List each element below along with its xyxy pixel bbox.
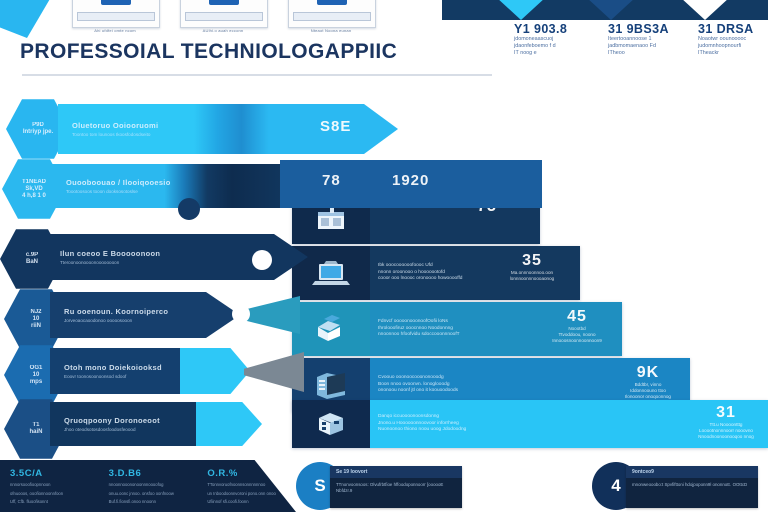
bottom-stat-line: Ufiinnof sfi.coofi.foonn bbox=[207, 499, 296, 505]
thumbnail-card[interactable] bbox=[72, 0, 160, 28]
network-cube-icon bbox=[292, 400, 370, 448]
stat-line: judomnhoopnourfi bbox=[698, 43, 768, 50]
thumbnail-card[interactable] bbox=[180, 0, 268, 28]
chevron-stat-block: 31 9BS3A Iteertooannoose 1 jadbmomaenaoo… bbox=[608, 22, 700, 57]
arrow-title: Otoh mono Doiekoiooksd bbox=[64, 363, 162, 372]
bottom-stat-line: ofnuooos, ooofionnoonnfoon bbox=[10, 491, 99, 497]
stair-panel-number: 35 Ma.onnnoonnoo.oon lonnnoonnnoooaonog bbox=[492, 252, 572, 282]
thumbnail-card[interactable] bbox=[288, 0, 376, 28]
page-title: PROFESSOIAL TECHNIOLOGAPPIIC bbox=[20, 40, 397, 64]
bottom-stat-line: TTonnvoruofnoonnsonnnnnnoo bbox=[207, 482, 296, 488]
bottom-stat-line: un Inboodoonnvoroni pono.onn onoo bbox=[207, 491, 296, 497]
stat-line: ITheackr bbox=[698, 50, 768, 57]
hexagon-label: T1 haiN bbox=[29, 422, 42, 436]
bottom-card[interactable]: 4 9ontceo9 mnonweooobo:t Spvfifttoni hdo… bbox=[592, 462, 768, 510]
bottom-stat-number: O.R.% bbox=[207, 468, 296, 479]
bottom-stat-line: onuu.oonc jnnoo. onsfoo oonfnoow bbox=[109, 491, 198, 497]
bottom-card-header: Se 19 Ioovort bbox=[330, 466, 462, 478]
stair-panel-number: 9K Bddtbr, vinno Iddonnoouno ttoo Ilonoo… bbox=[608, 364, 688, 400]
bottom-stat: O.R.% TTonnvoruofnoonnsonnnnnnoo un Inbo… bbox=[197, 460, 296, 512]
hexagon-label: OG1 10 mps bbox=[30, 365, 43, 386]
arrow-number-secondary: 1920 bbox=[392, 172, 429, 189]
chevron-navy-icon bbox=[574, 0, 648, 20]
arrow-subtitle: Tteroonoonoooonoooooooon bbox=[60, 260, 160, 266]
arrow-bar-text: Ilun coeoo E Booooonoon Tteroonoonoooono… bbox=[46, 249, 160, 266]
stat-number: 31 DRSA bbox=[698, 22, 768, 36]
stat-line: IT noog e bbox=[514, 50, 606, 57]
bottom-stat: 3.D.B6 nnoonnooononoonnnoooofog onuu.oon… bbox=[99, 460, 198, 512]
arrow-subtitle: Toootoosoos tooon dooksosotoslse bbox=[66, 189, 171, 195]
stat-number: Y1 903.8 bbox=[514, 22, 606, 36]
hexagon-label: c.9P BaN bbox=[26, 252, 38, 266]
bottom-stat-line: Buf.fi.fionsfi.onoo nnoonn bbox=[109, 499, 198, 505]
chevron-white-icon bbox=[668, 0, 742, 20]
bottom-card-text: mnonweooobo:t Spvfifttoni hdojpoponn9l o… bbox=[626, 478, 758, 492]
arrow-subtitle: Eoovr toonosoonoonsod sdoof bbox=[64, 374, 162, 380]
thumbnail-bar bbox=[77, 12, 155, 21]
arrow-bar-text: Otoh mono Doiekoiooksd Eoovr toonosoonoo… bbox=[50, 363, 162, 380]
arrow-bar-text: Oluetoruo Ooiooruomi Toontoo tom lounoos… bbox=[58, 121, 158, 138]
document-icon bbox=[317, 0, 347, 5]
hexagon-label: T1NEAD Sk,VD 4 h,8 1 0 bbox=[22, 179, 46, 200]
panel-number: 35 bbox=[492, 252, 572, 270]
thumbnail-bar bbox=[185, 12, 263, 21]
thumbnail-caption: Ahi ufdfei omte ncom bbox=[72, 28, 158, 33]
bottom-stat-line: Uff, Cfb. fluoofisonnt bbox=[10, 499, 99, 505]
arrow-connector-wedge bbox=[244, 352, 304, 392]
chevron-stat-block: 31 DRSA Noaotwr oounooooc judomnhoopnour… bbox=[698, 22, 768, 57]
arrow-subtitle: Jhoo oteodsotosdoosfoodosfeoood bbox=[64, 427, 160, 433]
bottom-card-header: 9ontceo9 bbox=[626, 466, 758, 478]
hexagon-label: NJ2 10 riiN bbox=[30, 309, 41, 330]
arrow-bar-text: Ouooboouao / Ilooiqooesio Toootoosoos to… bbox=[52, 178, 171, 195]
connector-dot bbox=[178, 198, 200, 220]
arrow-number: S8E bbox=[320, 118, 351, 135]
thumbnail-bar bbox=[293, 12, 371, 21]
hexagon-label: P9D Intriyp jpe. bbox=[23, 122, 53, 136]
arrow-head-cyan bbox=[196, 402, 262, 446]
thumbnail-caption: Nteaot Noona eunan bbox=[288, 28, 374, 33]
chevron-cyan-icon bbox=[484, 0, 558, 20]
bottom-card[interactable]: S Se 19 Ioovort TTnonvoonsoos: Olvufrbtf… bbox=[296, 462, 496, 510]
stat-line: jadbmomaenaoo Fd bbox=[608, 43, 700, 50]
panel-number-label: Nnoodnoonoonooqoo nnog bbox=[688, 434, 764, 440]
bottom-stat: 3.5C/A nnnorsooofioopnnoon ofnuooos, ooo… bbox=[0, 460, 99, 512]
corner-accent-wedge bbox=[0, 0, 54, 38]
arrow-bar-row-4[interactable]: Ru ooenoun. Koornoiperco Jorveoaocaoodon… bbox=[50, 292, 240, 338]
arrow-bar-text: Ru ooenoun. Koornoiperco Jorveoaocaoodon… bbox=[50, 307, 168, 324]
arrow-title: Ru ooenoun. Koornoiperco bbox=[64, 307, 168, 316]
panel-number: 45 bbox=[536, 308, 618, 326]
chevron-stat-block: Y1 903.8 jdomoneaascuoj jdaonfeboemo f d… bbox=[514, 22, 606, 57]
arrow-bar-row-2[interactable]: Ouooboouao / Ilooiqooesio Toootoosoos to… bbox=[52, 164, 302, 208]
arrow-subtitle: Toontoo tom lounoos Ikoosfodosdseito bbox=[72, 132, 158, 138]
arrow-title: Oluetoruo Ooiooruomi bbox=[72, 121, 158, 130]
thumbnail-caption: AUlhi.o auah ecconn bbox=[180, 28, 266, 33]
stat-line: Noaotwr oounooooc bbox=[698, 36, 768, 43]
bottom-card-body: Se 19 Ioovort TTnonvoonsoos: Olvufrbtfio… bbox=[330, 466, 462, 508]
connector-dot bbox=[252, 250, 272, 270]
bottom-card-body: 9ontceo9 mnonweooobo:t Spvfifttoni hdojp… bbox=[626, 466, 758, 508]
infographic-root: Ahi ufdfei omte ncom AUlhi.o auah ecconn… bbox=[0, 0, 768, 512]
arrow-title: Ilun coeoo E Booooonoon bbox=[60, 249, 160, 258]
stat-line: ITheoo bbox=[608, 50, 700, 57]
stair-panel-number: 45 Noootbd Ttvoddoou, noono Innooosnoonn… bbox=[536, 308, 618, 344]
panel-number: 9K bbox=[608, 364, 688, 382]
stat-number: 31 9BS3A bbox=[608, 22, 700, 36]
chevron-band bbox=[442, 0, 768, 20]
arrow-head-cyan bbox=[180, 348, 250, 394]
stat-line: jdaonfeboemo f d bbox=[514, 43, 606, 50]
document-icon bbox=[101, 0, 131, 5]
panel-number-label: Innooosnoonnoonnoon9 bbox=[536, 338, 618, 344]
connector-dot bbox=[232, 305, 250, 323]
bottom-left-stats-panel: 3.5C/A nnnorsooofioopnnoon ofnuooos, ooo… bbox=[0, 460, 296, 512]
arrow-bar-text: Qruoqpoony Doronoeoot Jhoo oteodsotosdoo… bbox=[50, 416, 160, 433]
bottom-stat-line: nnnorsooofioopnnoon bbox=[10, 482, 99, 488]
stat-line: jdomoneaascuoj bbox=[514, 36, 606, 43]
printer-3d-icon bbox=[292, 302, 370, 356]
panel-number: 31 bbox=[688, 404, 764, 422]
arrow-title: Qruoqpoony Doronoeoot bbox=[64, 416, 160, 425]
arrow-subtitle: Jorveoaocaoodonoo ooooosooon bbox=[64, 318, 168, 324]
panel-number-label: lonnnoonnnoooaonog bbox=[492, 276, 572, 282]
arrow-title: Ouooboouao / Ilooiqooesio bbox=[66, 178, 171, 187]
arrow-number: 78 bbox=[322, 172, 341, 189]
stair-panel-number: 31 Ttt.u Noooontttg Looootnonnnoorr nooo… bbox=[688, 404, 764, 440]
bottom-stat-number: 3.D.B6 bbox=[109, 468, 198, 479]
bottom-stat-number: 3.5C/A bbox=[10, 468, 99, 479]
document-icon bbox=[209, 0, 239, 5]
stat-line: Iteertooannoose 1 bbox=[608, 36, 700, 43]
bottom-card-text: TTnonvoonsoos: Olvufrbtfioe hffoodoponno… bbox=[330, 478, 462, 498]
title-divider bbox=[22, 74, 492, 76]
bottom-stat-line: nnoonnooononoonnnoooofog bbox=[109, 482, 198, 488]
